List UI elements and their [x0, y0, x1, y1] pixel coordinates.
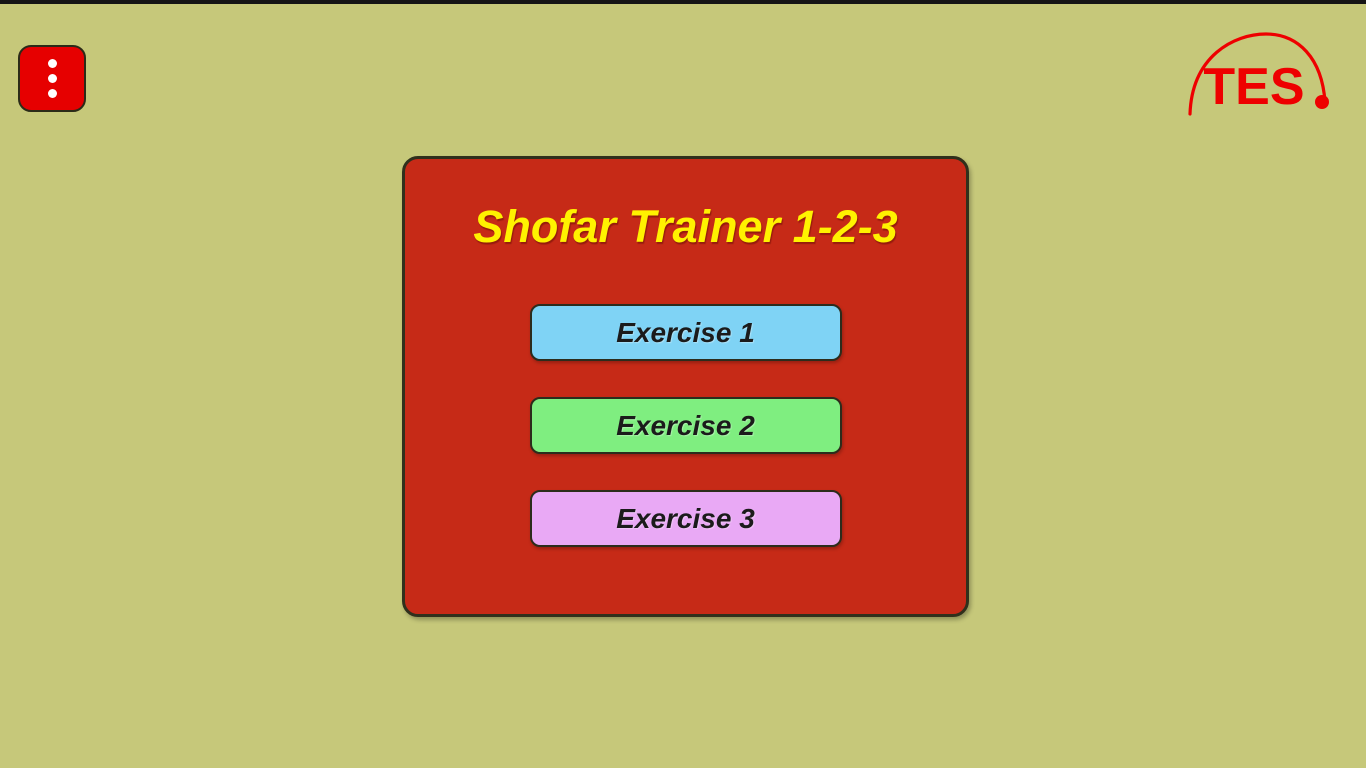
- top-edge-strip: [0, 0, 1366, 4]
- exercise-3-button[interactable]: Exercise 3: [530, 490, 842, 547]
- exercise-1-label: Exercise 1: [616, 317, 755, 349]
- exercise-1-button[interactable]: Exercise 1: [530, 304, 842, 361]
- menu-dot-icon: [48, 89, 57, 98]
- menu-dot-icon: [48, 59, 57, 68]
- exercise-2-label: Exercise 2: [616, 410, 755, 442]
- page-title: Shofar Trainer 1-2-3: [405, 201, 966, 253]
- exercise-3-label: Exercise 3: [616, 503, 755, 535]
- main-card: Shofar Trainer 1-2-3 Exercise 1 Exercise…: [402, 156, 969, 617]
- menu-dot-icon: [48, 74, 57, 83]
- tes-logo: TES: [1186, 28, 1336, 118]
- exercise-2-button[interactable]: Exercise 2: [530, 397, 842, 454]
- exercise-list: Exercise 1 Exercise 2 Exercise 3: [405, 304, 966, 547]
- overflow-menu-button[interactable]: [18, 45, 86, 112]
- svg-text:TES: TES: [1203, 58, 1304, 116]
